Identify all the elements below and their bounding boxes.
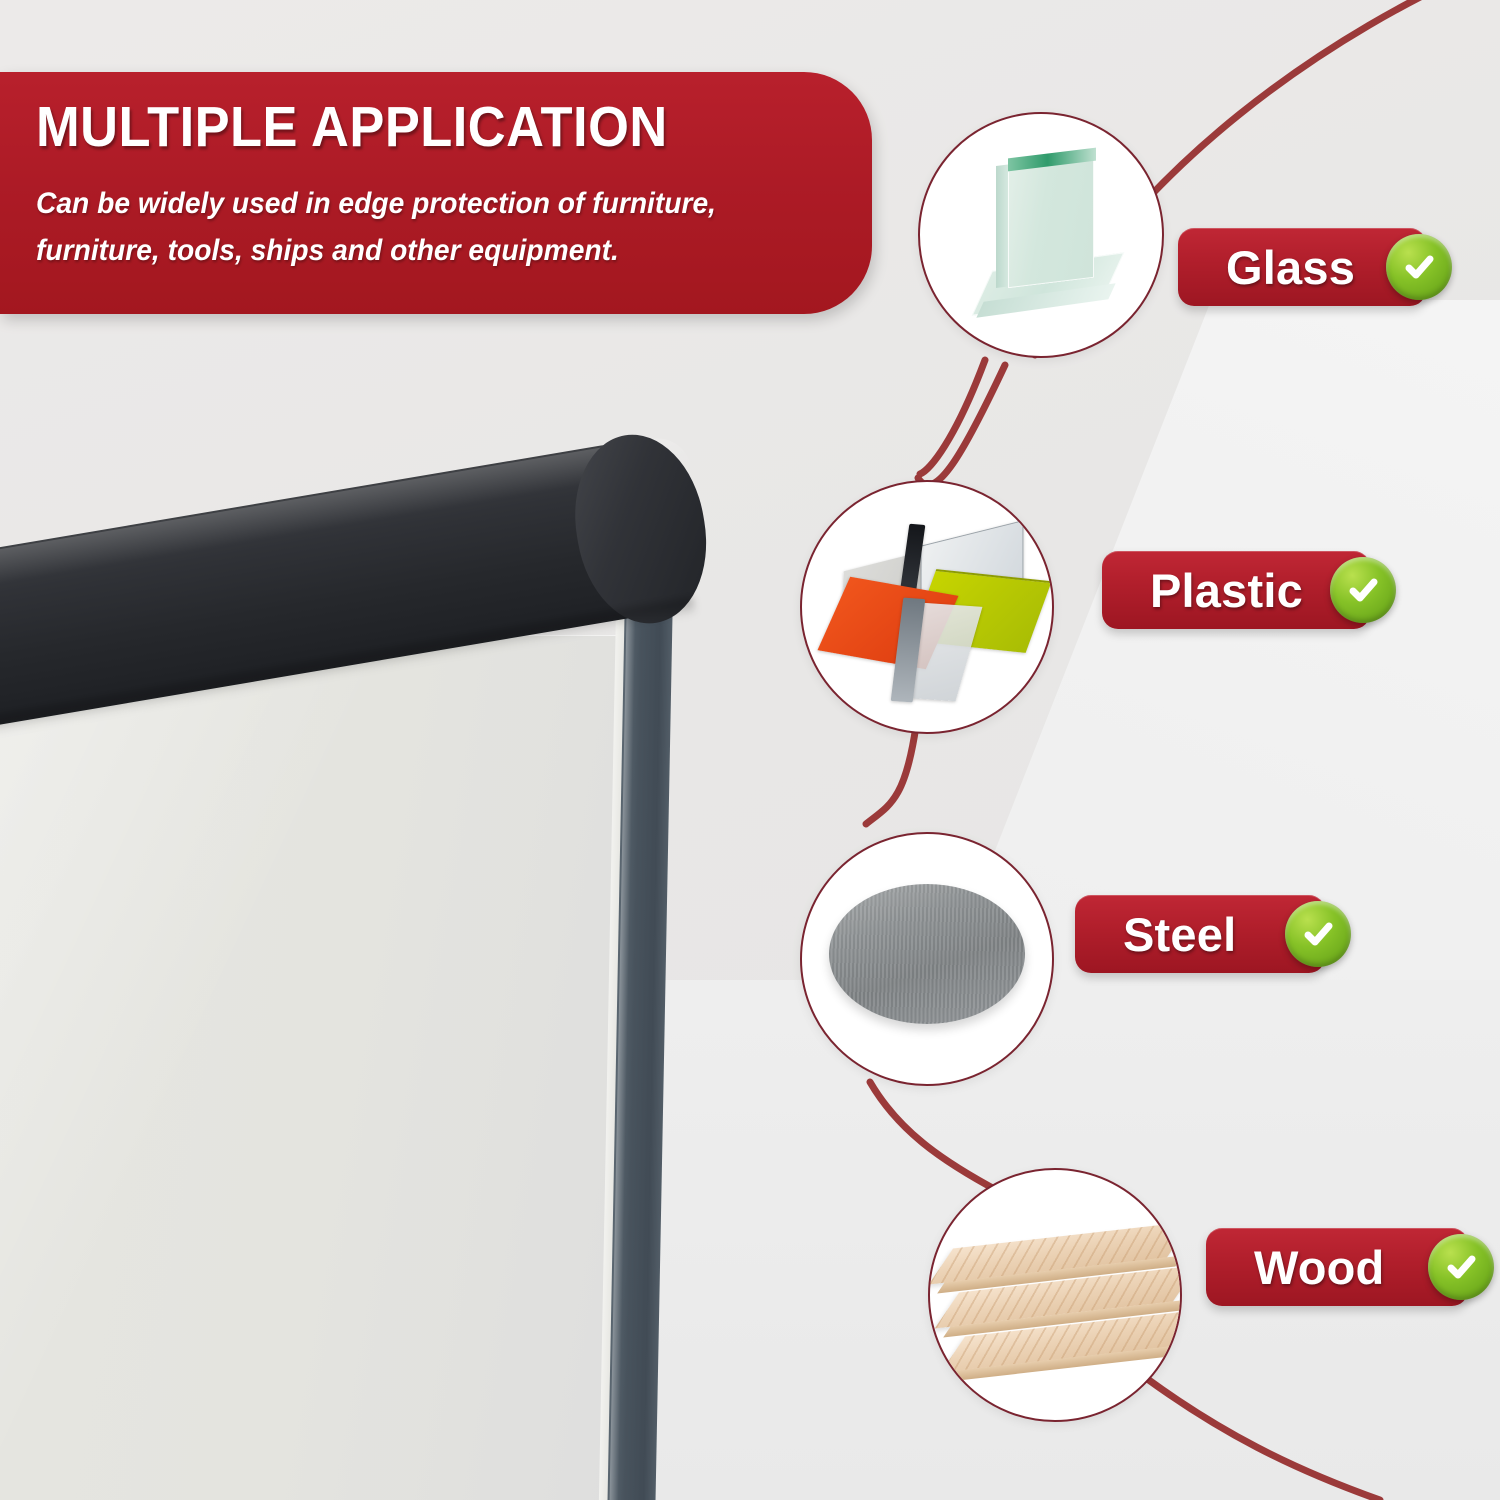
- green-check-icon-steel: [1285, 901, 1351, 967]
- banner-title: MULTIPLE APPLICATION: [36, 96, 772, 158]
- banner-subtitle-line2: furniture, tools, ships and other equipm…: [36, 227, 797, 274]
- green-check-icon-glass: [1386, 234, 1452, 300]
- material-pill-wood[interactable]: Wood: [1206, 1228, 1468, 1306]
- wood-planks-icon: [940, 1205, 1170, 1385]
- product-photo: [0, 380, 750, 1500]
- material-circle-plastic: [800, 480, 1054, 734]
- material-circle-steel: [800, 832, 1054, 1086]
- header-banner: MULTIPLE APPLICATION Can be widely used …: [0, 72, 872, 314]
- green-check-icon-plastic: [1330, 557, 1396, 623]
- panel-sheen: [0, 635, 636, 1500]
- material-circle-glass: [918, 112, 1164, 358]
- infographic-canvas: MULTIPLE APPLICATION Can be widely used …: [0, 0, 1500, 1500]
- glass-sample-icon: [970, 159, 1120, 319]
- material-pill-steel[interactable]: Steel: [1075, 895, 1325, 973]
- green-check-icon-wood: [1428, 1234, 1494, 1300]
- banner-subtitle-line1: Can be widely used in edge protection of…: [36, 180, 797, 227]
- plastic-sheets-icon: [827, 512, 1027, 702]
- banner-subtitle: Can be widely used in edge protection of…: [36, 180, 797, 274]
- material-circle-wood: [928, 1168, 1182, 1422]
- material-pill-plastic[interactable]: Plastic: [1102, 551, 1370, 629]
- steel-disc-icon: [829, 884, 1025, 1034]
- material-pill-glass[interactable]: Glass: [1178, 228, 1426, 306]
